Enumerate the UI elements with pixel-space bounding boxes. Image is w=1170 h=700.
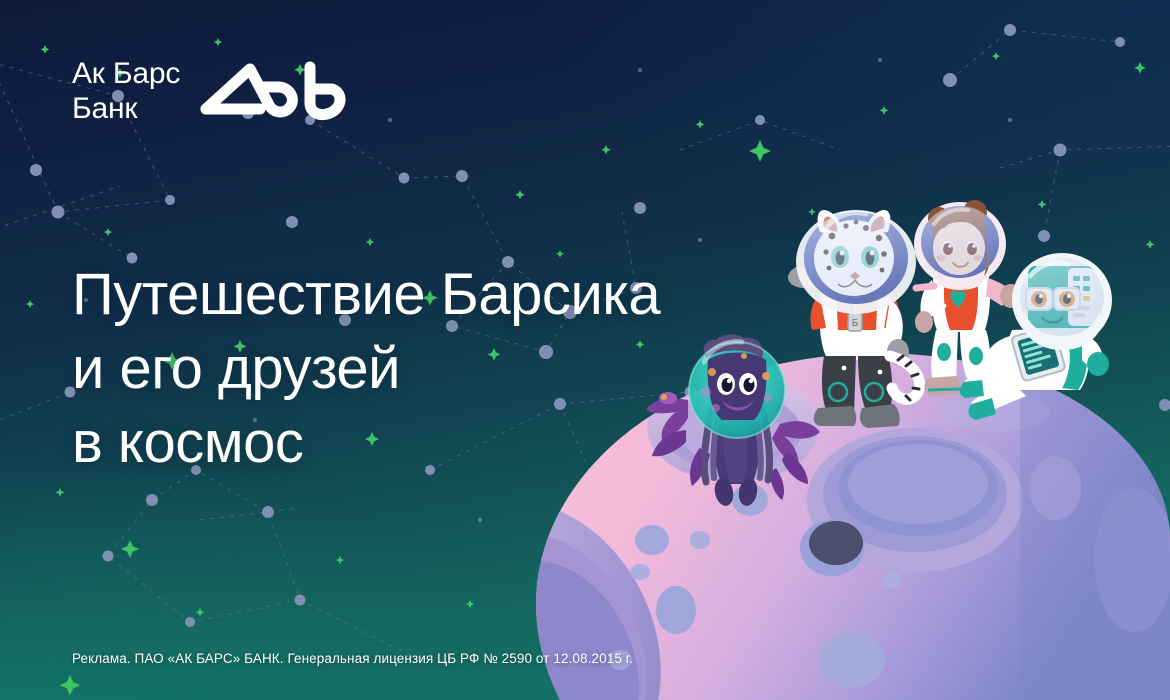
brand-name: Ак Барс Банк <box>72 56 180 126</box>
svg-text:Б: Б <box>852 318 859 329</box>
ad-banner[interactable]: Б <box>0 0 1170 700</box>
page-title: Путешествие Барсика и его друзей в космо… <box>72 258 660 480</box>
ak-bars-mark-icon <box>198 55 358 127</box>
legal-disclaimer: Реклама. ПАО «АК БАРС» БАНК. Генеральная… <box>72 650 633 668</box>
brand-logo[interactable]: Ак Барс Банк <box>72 55 358 127</box>
